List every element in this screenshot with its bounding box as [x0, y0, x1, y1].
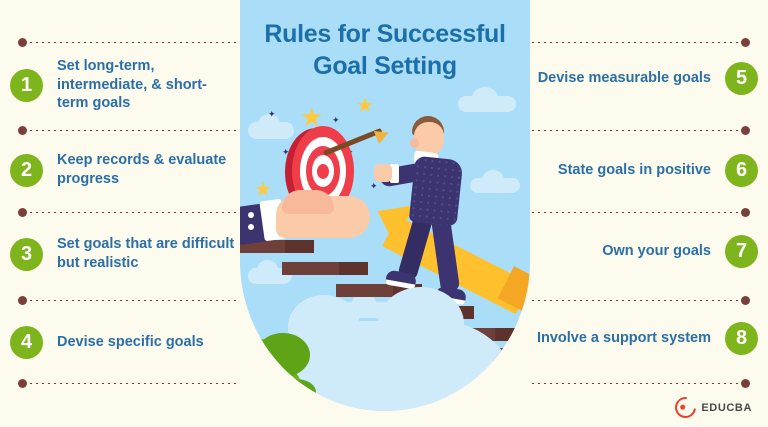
- rule-number-badge: 8: [725, 322, 758, 355]
- target-bullseye: [317, 164, 329, 179]
- educba-e-icon: [671, 393, 700, 422]
- rule-text: Devise measurable goals: [538, 69, 711, 88]
- businessman-fist: [374, 164, 392, 182]
- divider-line: [530, 211, 746, 214]
- center-illustration-panel: Rules for Successful Goal Setting ★ ★ ★ …: [240, 0, 530, 411]
- divider-endcap: [741, 126, 750, 135]
- divider-endcap: [741, 296, 750, 305]
- cloud-icon: [248, 122, 294, 139]
- bush-icon: [256, 333, 310, 377]
- rule-item-3[interactable]: 3 Set goals that are difficult but reali…: [10, 231, 236, 277]
- divider-endcap: [18, 126, 27, 135]
- rule-item-2[interactable]: 2 Keep records & evaluate progress: [10, 147, 236, 193]
- divider-endcap: [18, 379, 27, 388]
- bush-icon: [494, 363, 524, 389]
- divider-endcap: [18, 208, 27, 217]
- page-title: Rules for Successful Goal Setting: [240, 18, 530, 82]
- page-title-line1: Rules for Successful: [240, 18, 530, 50]
- sparkle-icon: ✦: [332, 116, 340, 125]
- rule-number-badge: 1: [10, 69, 43, 102]
- rule-text: Set long-term, intermediate, & short-ter…: [57, 57, 236, 113]
- businessman-torso: [409, 156, 464, 227]
- divider-line: [22, 41, 240, 44]
- rule-text: Devise specific goals: [57, 333, 204, 352]
- divider-line: [22, 129, 240, 132]
- divider-line: [22, 299, 240, 302]
- divider-endcap: [741, 379, 750, 388]
- educba-logo[interactable]: EDUCBA: [675, 397, 752, 418]
- cloud-icon: [470, 178, 520, 193]
- divider-endcap: [741, 38, 750, 47]
- rule-item-5[interactable]: 5 Devise measurable goals: [532, 55, 758, 101]
- rule-number-badge: 7: [725, 235, 758, 268]
- stair-step: [282, 262, 368, 275]
- rule-text: Keep records & evaluate progress: [57, 151, 236, 188]
- right-rules-column: 5 Devise measurable goals 6 State goals …: [530, 0, 768, 427]
- star-icon: ★: [254, 180, 272, 200]
- cloud-icon: [458, 96, 516, 112]
- sparkle-icon: ✦: [370, 182, 378, 191]
- rule-number-badge: 3: [10, 238, 43, 271]
- divider-line: [530, 41, 746, 44]
- divider-line: [530, 382, 746, 385]
- rule-text: State goals in positive: [558, 161, 711, 180]
- divider-endcap: [18, 296, 27, 305]
- rule-item-6[interactable]: 6 State goals in positive: [532, 147, 758, 193]
- divider-line: [530, 129, 746, 132]
- businessman-ear: [410, 138, 419, 148]
- rule-number-badge: 2: [10, 154, 43, 187]
- divider-line: [530, 299, 746, 302]
- rule-text: Own your goals: [602, 242, 711, 261]
- bush-icon: [276, 379, 316, 405]
- rule-item-4[interactable]: 4 Devise specific goals: [10, 325, 236, 359]
- divider-line: [22, 382, 240, 385]
- infographic-root: Rules for Successful Goal Setting ★ ★ ★ …: [0, 0, 768, 427]
- rule-text: Set goals that are difficult but realist…: [57, 235, 236, 272]
- divider-endcap: [18, 38, 27, 47]
- page-title-line2: Goal Setting: [240, 50, 530, 82]
- logo-text: EDUCBA: [701, 402, 752, 414]
- rule-number-badge: 5: [725, 62, 758, 95]
- arrow-fletching-icon: [374, 126, 391, 144]
- suit-pattern: [409, 156, 464, 227]
- sleeve-button-icon: [248, 224, 254, 230]
- divider-endcap: [741, 208, 750, 217]
- rule-text: Involve a support system: [537, 329, 711, 348]
- divider-line: [22, 211, 240, 214]
- rule-item-7[interactable]: 7 Own your goals: [532, 234, 758, 268]
- sleeve-button-icon: [248, 212, 254, 218]
- rule-number-badge: 4: [10, 326, 43, 359]
- rule-item-1[interactable]: 1 Set long-term, intermediate, & short-t…: [10, 55, 236, 115]
- hand-thumb: [282, 190, 334, 214]
- sparkle-icon: ✦: [268, 110, 276, 119]
- rule-number-badge: 6: [725, 154, 758, 187]
- star-icon: ★: [356, 96, 374, 116]
- rule-item-8[interactable]: 8 Involve a support system: [532, 315, 758, 361]
- left-rules-column: 1 Set long-term, intermediate, & short-t…: [0, 0, 240, 427]
